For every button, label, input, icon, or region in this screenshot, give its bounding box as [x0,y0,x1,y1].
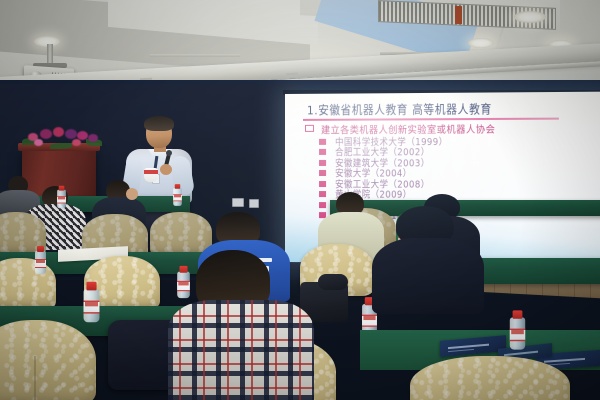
chair[interactable] [0,258,56,310]
beam-fitting [286,73,298,78]
flower-arrangement [20,126,104,148]
bottle-label-text [511,330,524,334]
water-bottle[interactable] [510,310,525,349]
bottle-label-text [85,302,98,306]
water-bottle[interactable] [35,246,46,274]
square-bullet-icon [319,202,326,208]
conference-room-photo: 1.安徽省机器人教育 高等机器人教育 建立各类机器人创新实验室或机器人协会 中国… [0,0,600,400]
square-bullet-icon [319,191,326,197]
bag-strap [318,274,348,290]
flower-icon [34,139,43,146]
square-bullet-icon [319,170,326,176]
bottle-label-text [178,282,188,285]
flower-icon [65,129,77,139]
bottle-cap [513,310,523,318]
flower-icon [88,134,98,142]
chair[interactable] [150,212,212,256]
torso [168,300,314,400]
flower-icon [53,127,64,137]
presenter-hair [144,116,174,131]
bottle-cap [179,266,187,273]
paper-cup-band [144,170,158,174]
bottle-label-text [174,195,181,197]
vent-marker [455,6,462,24]
chair[interactable] [0,320,96,400]
water-bottle[interactable] [84,282,100,323]
square-bullet-icon [319,159,326,165]
flower-icon [72,139,81,146]
bottle-label-text [36,260,45,263]
bottle-cap [37,246,44,252]
water-bottle[interactable] [57,186,66,208]
square-bullet-icon [319,181,326,187]
water-bottle[interactable] [177,266,190,298]
bottle-label-text [58,197,65,199]
presenter-hand [160,164,172,175]
downlight-icon [468,38,494,48]
torso [372,238,484,314]
wall-socket[interactable] [249,199,259,208]
booklet-title-line [504,350,537,356]
wall-socket[interactable] [232,198,244,207]
slide-bullet-box-icon [305,125,314,132]
bottle-cap [59,186,65,191]
face-profile [126,188,138,200]
square-bullet-icon [319,149,326,155]
water-bottle[interactable] [173,184,182,206]
ceiling-slot [150,54,240,57]
bottle-cap [175,184,180,189]
flower-icon [40,129,52,139]
slide-title: 1.安徽省机器人教育 高等机器人教育 [307,100,600,119]
chair-seam [34,356,36,400]
leaf-icon [50,143,72,149]
downlight-icon [514,11,546,23]
bottle-label-text [363,316,375,320]
square-bullet-icon [319,138,326,144]
bottle-cap [86,282,96,291]
microphone-head [166,150,172,156]
